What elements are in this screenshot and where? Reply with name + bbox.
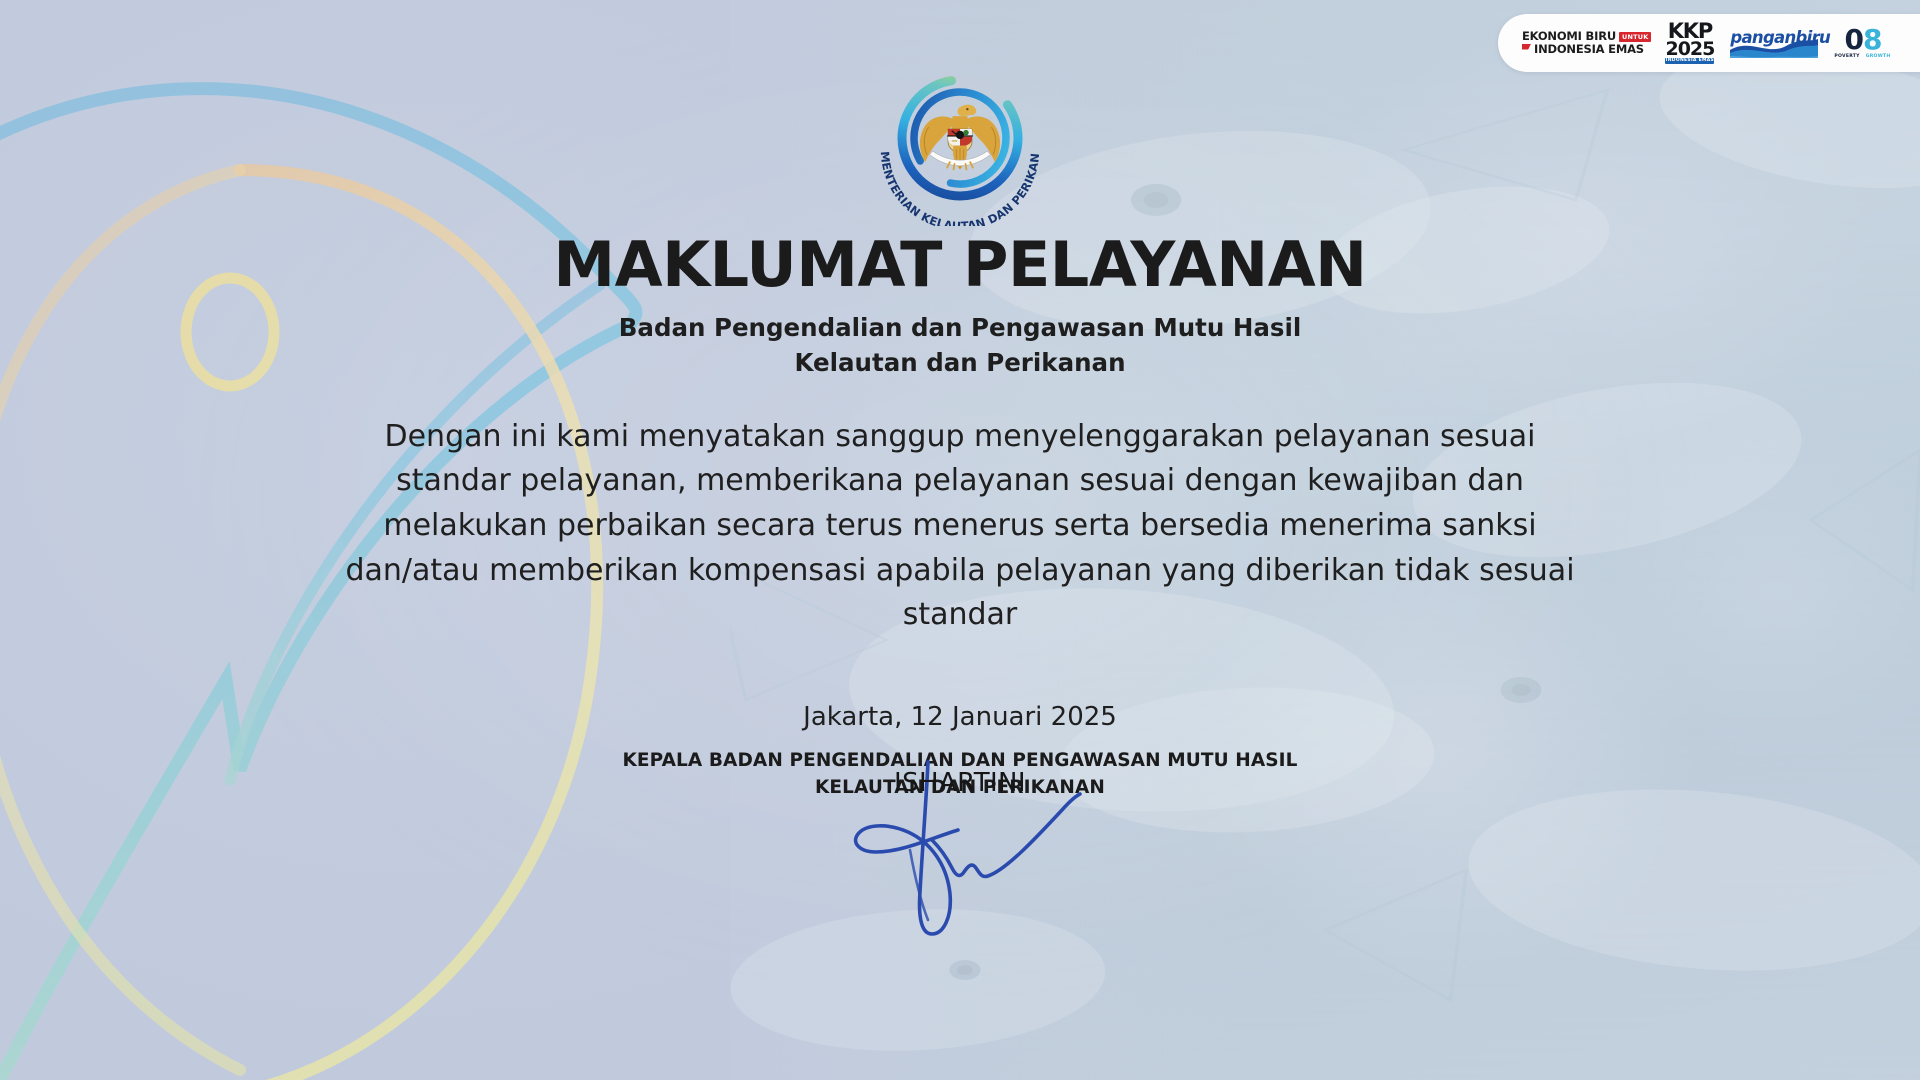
organization-subtitle-line1: Badan Pengendalian dan Pengawasan Mutu H…: [0, 311, 1920, 346]
maklumat-pelayanan-poster: EKONOMI BIRU UNTUK INDONESIA EMAS KKP 20…: [0, 0, 1920, 1080]
logo-panganbiru-text: panganbiru: [1730, 28, 1830, 47]
poster-content: MAKLUMAT PELAYANAN Badan Pengendalian da…: [0, 232, 1920, 886]
organization-subtitle: Badan Pengendalian dan Pengawasan Mutu H…: [0, 311, 1920, 381]
garuda-pancasila-icon: [920, 105, 1000, 170]
logo-ekonomi-biru: EKONOMI BIRU UNTUK INDONESIA EMAS: [1522, 31, 1651, 55]
logo-08-poverty-growth: 0 8 POVERTY GROWTH: [1834, 26, 1890, 60]
organization-subtitle-line2: Kelautan dan Perikanan: [0, 346, 1920, 381]
indonesia-flag-icon: [1522, 44, 1531, 55]
logo-ekonomi-biru-line2: INDONESIA EMAS: [1534, 44, 1644, 56]
logo-ekonomi-biru-line1: EKONOMI BIRU: [1522, 31, 1616, 43]
declaration-body: Dengan ini kami menyatakan sanggup menye…: [335, 415, 1585, 638]
logo-08-sub2: GROWTH: [1866, 55, 1891, 60]
signer-name: ISHARTINI: [0, 768, 1920, 798]
signature-block: Jakarta, 12 Januari 2025 KEPALA BADAN PE…: [0, 702, 1920, 886]
kkp-emblem: KEMENTERIAN KELAUTAN DAN PERIKANAN: [865, 56, 1055, 226]
page-title: MAKLUMAT PELAYANAN: [0, 232, 1920, 297]
logo-kkp-tagline: INDONESIA EMAS: [1665, 58, 1714, 64]
place-and-date: Jakarta, 12 Januari 2025: [0, 702, 1920, 732]
campaign-logo-bar: EKONOMI BIRU UNTUK INDONESIA EMAS KKP 20…: [1498, 14, 1920, 72]
logo-panganbiru: panganbiru: [1728, 26, 1820, 60]
logo-08-sub1: POVERTY: [1834, 55, 1859, 60]
logo-kkp-2025: KKP 2025 INDONESIA EMAS: [1665, 22, 1714, 64]
logo-08-digit1: 0: [1844, 26, 1861, 54]
logo-08-digit2: 8: [1863, 26, 1880, 54]
signature-area: ISHARTINI: [0, 768, 1920, 886]
logo-ekonomi-biru-badge: UNTUK: [1619, 32, 1651, 42]
